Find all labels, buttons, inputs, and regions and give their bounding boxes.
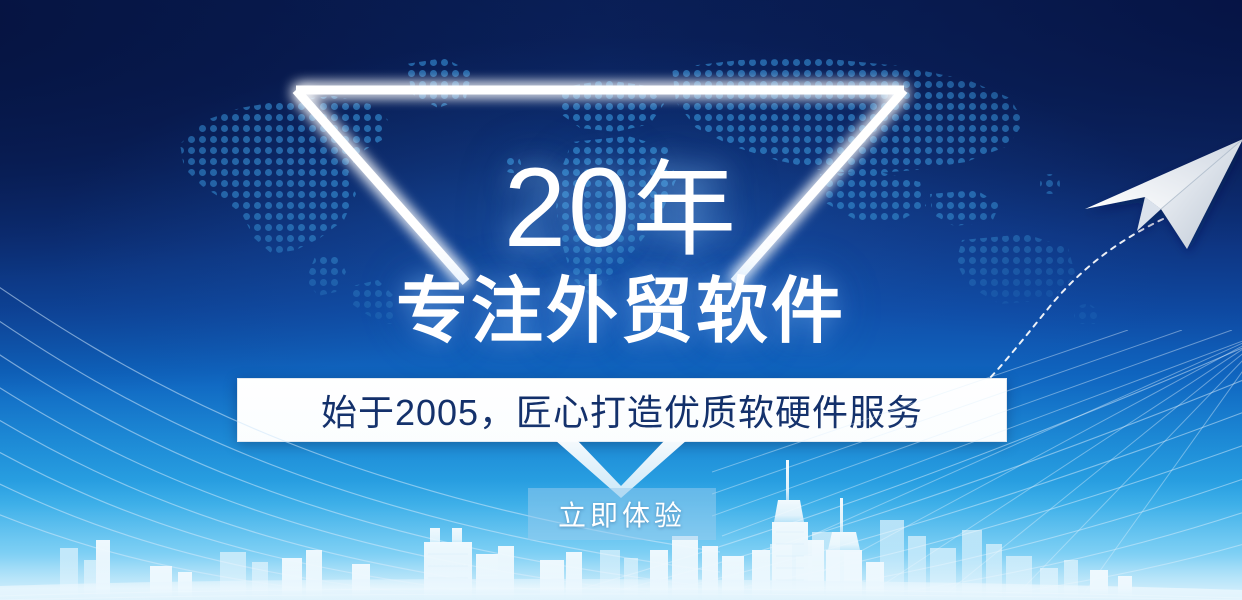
cta-button[interactable]: 立即体验 (528, 488, 716, 540)
cta-button-label: 立即体验 (558, 494, 686, 534)
promo-banner: 20年 专注外贸软件 始于2005，匠心打造优质软硬件服务 (0, 0, 1242, 600)
paper-plane-icon (1075, 135, 1242, 265)
